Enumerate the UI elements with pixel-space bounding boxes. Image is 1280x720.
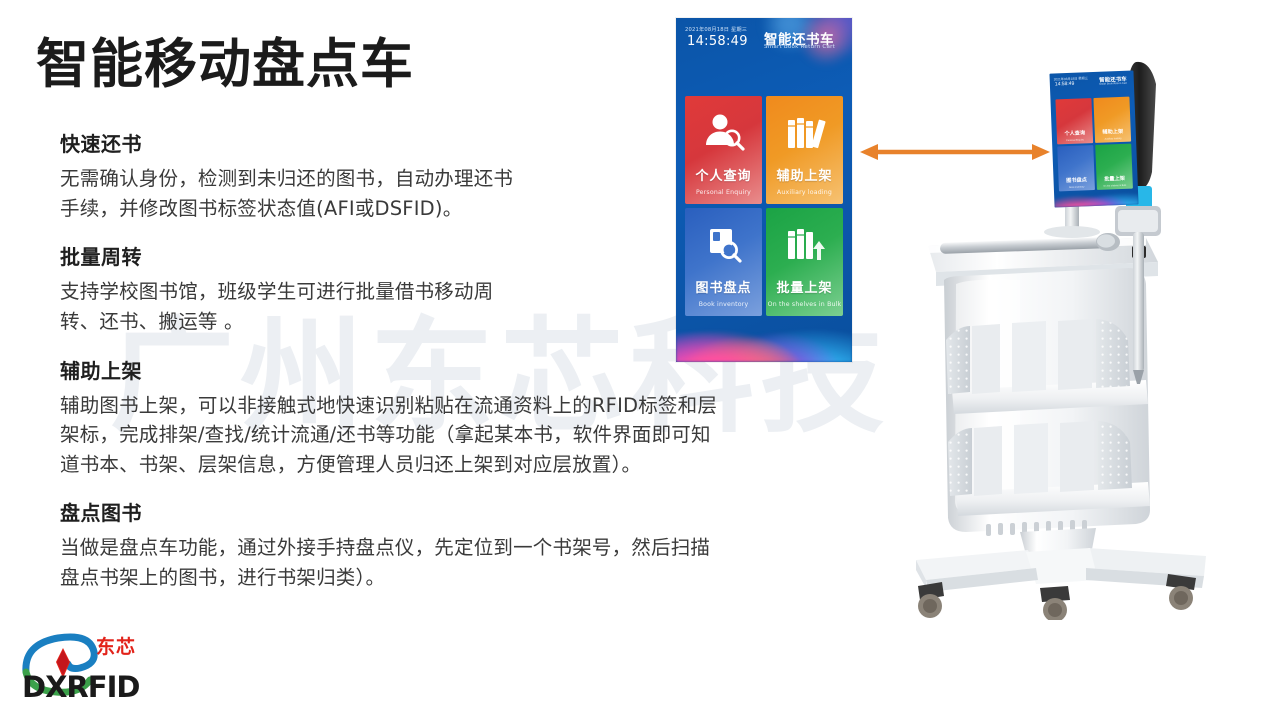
feature-section: 辅助上架 辅助图书上架，可以非接触式地快速识别粘贴在流通资料上的RFID标签和层… (60, 355, 870, 480)
kiosk-tile-auxiliary-loading[interactable]: 辅助上架 Auxiliary loading (766, 96, 843, 204)
relation-arrow (860, 141, 1050, 163)
kiosk-tile-sublabel: Personal Enquiry (685, 189, 762, 196)
section-heading: 盘点图书 (60, 497, 870, 526)
kiosk-tile-personal-enquiry[interactable]: 个人查询 Personal Enquiry (685, 96, 762, 204)
section-body: 当做是盘点车功能，通过外接手持盘点仪，先定位到一个书架号，然后扫描 盘点书架上的… (60, 533, 870, 592)
section-body-line: 道书本、书架、层架信息，方便管理人员归还上架到对应层放置）。 (60, 450, 870, 480)
cart-monitor-screen: 2021年08月18日 星期三 14:58:49 智能还书车 Smart Boo… (1049, 70, 1138, 207)
kiosk-tile-label: 个人查询 (685, 165, 762, 184)
decorative-swirl-bottom (676, 306, 852, 362)
section-body-line: 辅助图书上架，可以非接触式地快速识别粘贴在流通资料上的RFID标签和层 (60, 391, 870, 421)
cart-base (916, 548, 1206, 592)
section-body-line: 盘点书架上的图书，进行书架归类）。 (60, 563, 870, 593)
cart-monitor-tile-sublabel: Personal Enquiry (1057, 139, 1093, 142)
cart-monitor-tile-auxiliary-loading: 辅助上架 Auxiliary loading (1093, 97, 1131, 143)
cart-monitor-tile-sublabel: Auxiliary loading (1095, 138, 1131, 141)
kiosk-subtitle: Smart Book Return Cart (764, 44, 835, 50)
cart-monitor-tile-grid: 个人查询 Personal Enquiry 辅助上架 Auxiliary loa… (1055, 97, 1132, 192)
section-body-line: 架标，完成排架/查找/统计流通/还书等功能（拿起某本书，软件界面即可知 (60, 420, 870, 450)
kiosk-tile-label: 辅助上架 (766, 165, 843, 184)
cart-caster-wheel (1166, 574, 1196, 610)
cart-monitor-subtitle: Smart Book Return Cart (1099, 82, 1127, 86)
book-search-icon (685, 220, 762, 268)
slide-root: 广州东芯科技 智能移动盘点车 快速还书 无需确认身份，检测到未归还的图书，自动办… (0, 0, 1280, 720)
cart-monitor-tile-book-inventory: 图书盘点 Book inventory (1057, 145, 1095, 191)
kiosk-tile-bulk-shelving[interactable]: 批量上架 On the shelves in Bulk (766, 208, 843, 316)
brand-logo: 东芯 DXRFID (18, 628, 168, 702)
cart-caster-wheel (1040, 586, 1070, 620)
feature-section: 盘点图书 当做是盘点车功能，通过外接手持盘点仪，先定位到一个书架号，然后扫描 盘… (60, 497, 870, 592)
cart-monitor-tile-label: 图书盘点 (1058, 176, 1094, 184)
kiosk-tile-sublabel: Auxiliary loading (766, 189, 843, 196)
kiosk-screen: 2021年08月18日 星期三 14:58:49 智能还书车 Smart Boo… (676, 18, 852, 362)
cart-monitor-clock: 14:58:49 (1055, 81, 1075, 88)
cart-monitor-decorative-swirl (1054, 184, 1139, 207)
logo-wordmark: DXRFID (22, 670, 139, 704)
kiosk-tile-grid: 个人查询 Personal Enquiry (685, 96, 843, 316)
cart-monitor-tile-bulk-shelving: 批量上架 On the shelves in Bulk (1095, 144, 1133, 190)
kiosk-header: 2021年08月18日 星期三 14:58:49 智能还书车 Smart Boo… (676, 18, 852, 64)
section-body-line: 当做是盘点车功能，通过外接手持盘点仪，先定位到一个书架号，然后扫描 (60, 533, 870, 563)
kiosk-tile-label: 图书盘点 (685, 277, 762, 296)
cart-monitor-tile-label: 批量上架 (1096, 175, 1132, 183)
logo-chinese-text: 东芯 (96, 632, 136, 659)
cart-caster-wheel (918, 582, 944, 618)
cart-monitor-tile-label: 个人查询 (1057, 129, 1093, 137)
books-upload-icon (766, 220, 843, 268)
section-body: 辅助图书上架，可以非接触式地快速识别粘贴在流通资料上的RFID标签和层 架标，完… (60, 391, 870, 480)
cart-monitor-tile-personal-enquiry: 个人查询 Personal Enquiry (1055, 98, 1093, 144)
page-title: 智能移动盘点车 (36, 22, 414, 98)
cart-monitor-tile-label: 辅助上架 (1095, 128, 1131, 136)
kiosk-date: 2021年08月18日 星期三 (685, 26, 747, 33)
kiosk-clock: 14:58:49 (687, 34, 748, 49)
person-search-icon (685, 108, 762, 156)
kiosk-tile-label: 批量上架 (766, 277, 843, 296)
kiosk-tile-book-inventory[interactable]: 图书盘点 Book inventory (685, 208, 762, 316)
books-icon (766, 108, 843, 156)
